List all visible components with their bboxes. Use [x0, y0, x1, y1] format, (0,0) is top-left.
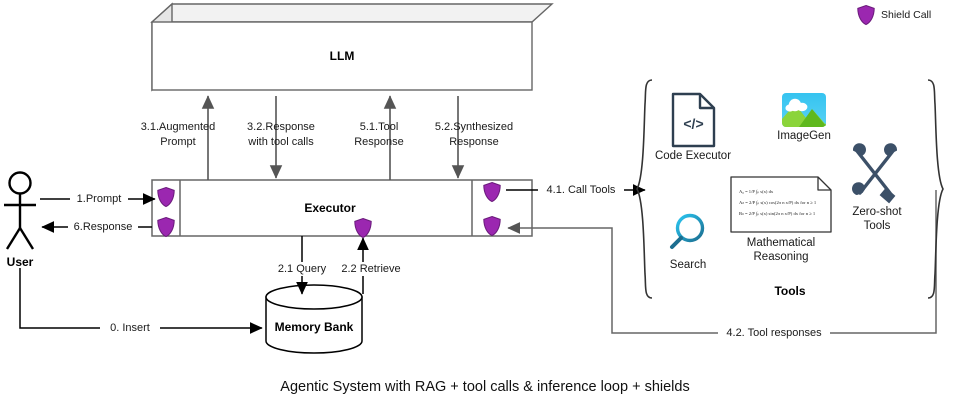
flow-retrieve-label: 2.2 Retrieve — [341, 263, 400, 275]
flow-synthesized-label-1: 5.2.Synthesized — [435, 121, 513, 133]
flow-synthesized-label-2: Response — [449, 136, 499, 148]
flow-tool-response-label-1: 5.1.Tool — [360, 121, 399, 133]
diagram-caption: Agentic System with RAG + tool calls & i… — [280, 379, 689, 395]
flow-query-label: 2.1 Query — [278, 263, 327, 275]
tools-brace-right — [928, 80, 943, 298]
flow-augmented-prompt-label-2: Prompt — [160, 136, 195, 148]
user-label: User — [7, 255, 34, 269]
flow-prompt-label: 1.Prompt — [77, 193, 122, 205]
tool-code-executor-label: Code Executor — [655, 150, 731, 162]
svg-text:</>: </> — [683, 116, 703, 132]
flow-response-tools-label-2: with tool calls — [247, 136, 314, 148]
wrench-screwdriver-icon — [853, 144, 896, 202]
formula-document-icon: A₀ = 1/P ∫ₚ s(x) dx Aₙ = 2/P ∫ₚ s(x) cos… — [731, 177, 831, 232]
flow-response-tools-label-1: 3.2.Response — [247, 121, 315, 133]
llm-node[interactable]: LLM — [152, 4, 552, 90]
tool-code-executor[interactable]: </> Code Executor — [655, 94, 731, 162]
flow-tool-responses-label: 4.2. Tool responses — [726, 327, 822, 339]
flow-tool-response-label-2: Response — [354, 136, 404, 148]
shield-icon-legend — [858, 6, 874, 25]
memory-bank-node[interactable]: Memory Bank — [266, 285, 362, 353]
tools-brace-left — [637, 80, 652, 298]
tool-imagegen[interactable]: ImageGen — [777, 93, 831, 142]
diagram-canvas: LLM Executor User Memory Bank 3.1.Augmen… — [0, 0, 970, 411]
llm-label: LLM — [330, 49, 355, 63]
tools-group-label: Tools — [774, 284, 805, 298]
tool-imagegen-label: ImageGen — [777, 130, 831, 142]
magnifier-icon — [672, 216, 703, 248]
image-photo-icon — [782, 93, 826, 127]
flow-insert-arrow — [20, 268, 262, 328]
tool-math-label-1: Mathematical — [747, 237, 815, 249]
tool-math-label-2: Reasoning — [754, 251, 809, 263]
memory-bank-label: Memory Bank — [275, 320, 354, 334]
architecture-diagram: LLM Executor User Memory Bank 3.1.Augmen… — [0, 0, 970, 411]
tool-zero-shot-label-1: Zero-shot — [852, 206, 902, 218]
flow-response-label: 6.Response — [74, 221, 133, 233]
executor-node[interactable]: Executor — [152, 180, 532, 236]
flow-insert-label: 0. Insert — [110, 322, 150, 334]
executor-label: Executor — [304, 201, 356, 215]
flow-augmented-prompt-label-1: 3.1.Augmented — [141, 121, 216, 133]
code-document-icon: </> — [673, 94, 714, 146]
legend-label: Shield Call — [881, 9, 931, 21]
tool-zero-shot[interactable]: Zero-shot Tools — [852, 144, 902, 232]
tool-search-label: Search — [670, 259, 706, 271]
tool-math-reasoning[interactable]: A₀ = 1/P ∫ₚ s(x) dx Aₙ = 2/P ∫ₚ s(x) cos… — [731, 177, 831, 263]
tool-zero-shot-label-2: Tools — [864, 220, 891, 232]
legend: Shield Call — [858, 6, 931, 25]
user-actor[interactable] — [4, 173, 36, 250]
flow-call-tools-label: 4.1. Call Tools — [547, 184, 616, 196]
tool-search[interactable]: Search — [670, 216, 706, 272]
